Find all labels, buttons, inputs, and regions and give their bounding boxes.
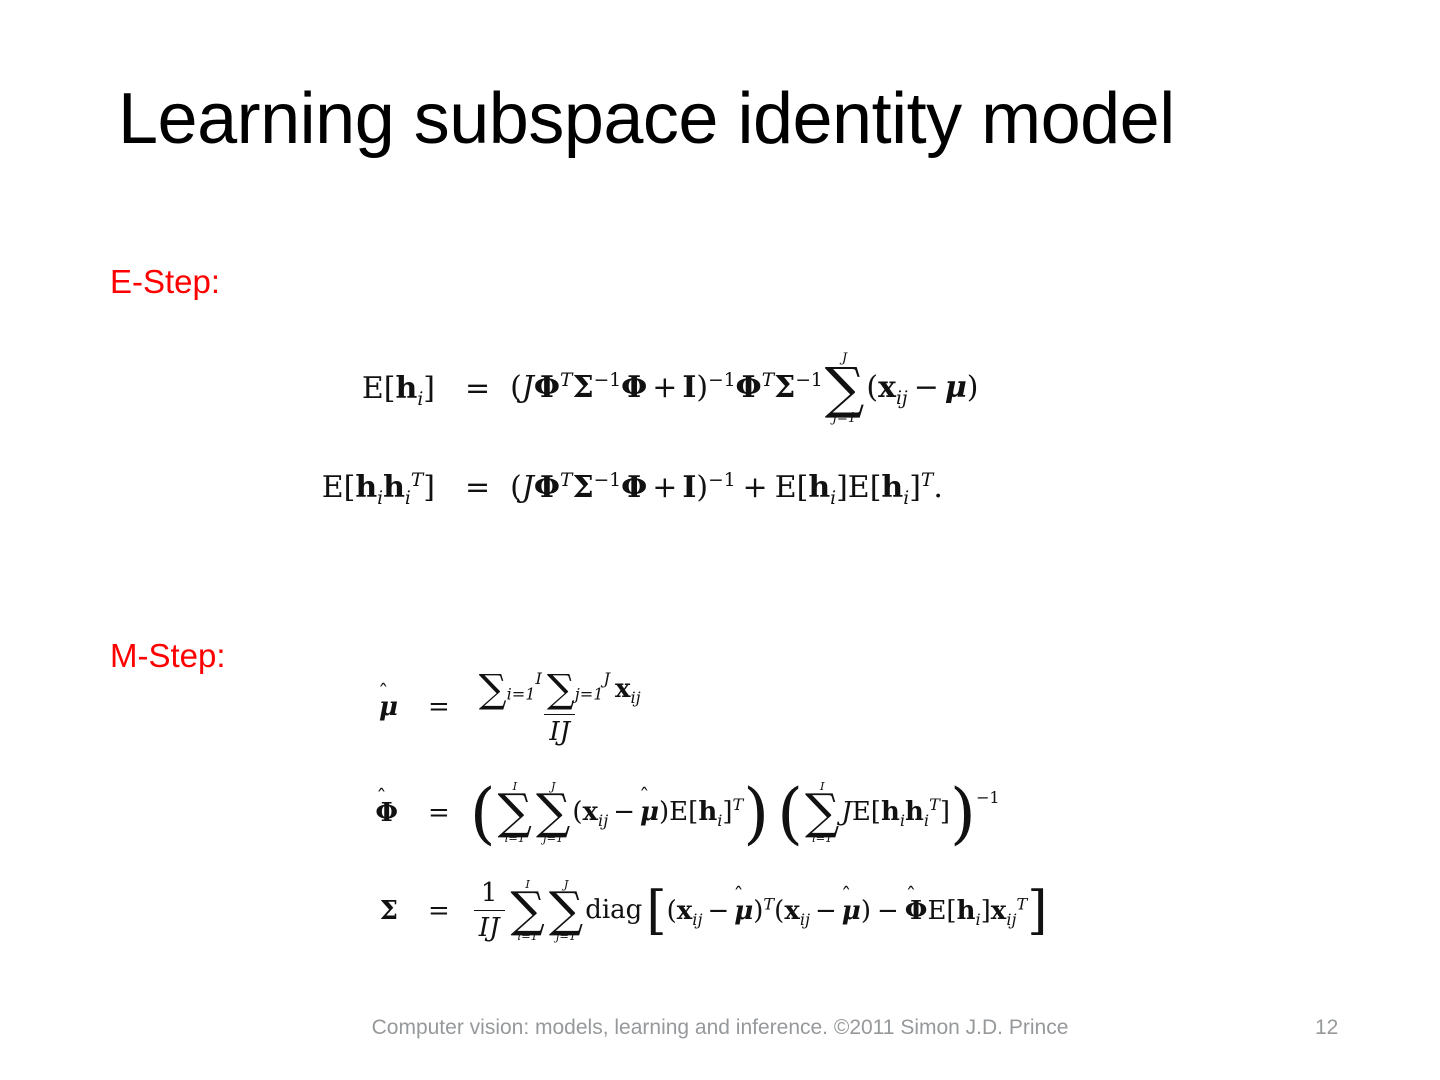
sym-E: E — [848, 470, 870, 505]
sym-J: J — [489, 913, 499, 943]
sym-Phi: Φ — [621, 370, 647, 405]
sym-rbrack: ] — [981, 896, 991, 926]
sym-Phi: Φ — [534, 470, 560, 505]
sym-rbrack: ] — [722, 797, 732, 827]
sym-lbrack: [ — [946, 896, 956, 926]
group-body: I∑i=1J∑j=1(xij−̂μ)E[hi]T — [496, 781, 744, 845]
summation-operator-j: J∑j=1 — [549, 879, 583, 943]
sym-lparen: ( — [510, 370, 522, 405]
sym-T: T — [411, 470, 423, 491]
equation-relation-equals: = — [408, 896, 470, 926]
sym-mu-hat: ̂μ — [734, 896, 753, 926]
sym-lparen: ( — [572, 797, 582, 827]
section-label-m-step: M-Step: — [110, 637, 226, 675]
sym-x: x — [991, 896, 1007, 926]
sym-minus-one: −1 — [594, 370, 621, 391]
sym-x: x — [677, 896, 693, 926]
sum-symbol: ∑ — [536, 792, 570, 833]
sum-symbol: ∑ — [498, 792, 532, 833]
sym-minus-one: −1 — [795, 370, 822, 391]
sym-x: x — [615, 674, 631, 704]
sym-T: T — [733, 795, 744, 814]
sym-rbrack: ] — [940, 797, 950, 827]
fraction-mu-hat: ∑i=1I∑j=1Jxij IJ — [474, 668, 646, 747]
sym-x: x — [784, 896, 800, 926]
sym-T: T — [762, 370, 774, 391]
sym-h: h — [881, 797, 900, 827]
sym-T: T — [929, 795, 940, 814]
sum-symbol: ∑ — [549, 890, 583, 931]
sym-plus: + — [652, 470, 677, 505]
m-step-equation-block: ̂μ = ∑i=1I∑j=1Jxij IJ ̂Φ = ( I∑i=1J∑j=1(… — [356, 668, 1048, 943]
fraction-one-over-ij: 1 IJ — [474, 879, 505, 943]
sym-plus: + — [743, 470, 768, 505]
sym-lbrack: [ — [871, 797, 881, 827]
sym-phi-hat: ̂Φ — [375, 798, 398, 828]
sym-Phi: Φ — [736, 370, 762, 405]
fraction-numerator: 1 — [476, 879, 503, 910]
summation-operator-i: I∑i=1 — [511, 879, 545, 943]
group-body: (xij−̂μ)T(xij−̂μ)−̂ΦE[hi]xijT — [667, 896, 1028, 926]
equation-relation-equals: = — [408, 692, 470, 722]
sym-T: T — [560, 470, 572, 491]
sym-lparen: ( — [510, 470, 522, 505]
sym-Sigma: Σ — [380, 896, 398, 926]
page-number: 12 — [1315, 1016, 1338, 1040]
equation-relation-equals: = — [445, 470, 510, 505]
sym-h: h — [383, 470, 405, 505]
sum-lower-limit: i=1 — [507, 685, 536, 704]
sum-lower-limit: i=1 — [517, 931, 538, 942]
sym-lparen: ( — [866, 370, 878, 405]
grouped-term-right: ( I∑i=1JE[hihiT] ) — [777, 781, 976, 845]
summation-operator-j: J∑j=1 — [536, 781, 570, 845]
sum-lower-limit: j=1 — [543, 833, 563, 844]
sym-mu-hat: ̂μ — [379, 692, 398, 722]
sym-minus: − — [613, 797, 635, 827]
equation-lhs-expected-h: E[hi] — [285, 371, 445, 406]
sym-lbrack: [ — [384, 371, 396, 406]
sym-Phi: Φ — [534, 370, 560, 405]
sym-rbrack: ] — [836, 470, 848, 505]
exponent-minus-one: −1 — [976, 788, 1000, 807]
sym-ij: ij — [631, 688, 641, 707]
sym-rparen: ) — [659, 797, 669, 827]
sum-lower-limit: j=1 — [575, 685, 604, 704]
sym-minus-one: −1 — [594, 470, 621, 491]
summation-operator-i: I∑i=1 — [805, 781, 839, 845]
sym-T: T — [1016, 894, 1027, 913]
slide-canvas: Learning subspace identity model E-Step:… — [0, 0, 1440, 1080]
sym-minus-one: −1 — [708, 370, 735, 391]
sym-plus: + — [652, 370, 677, 405]
sym-E: E — [775, 470, 797, 505]
equation-rhs-sigma: 1 IJ I∑i=1J∑j=1diag [ (xij−̂μ)T(xij−̂μ)−… — [470, 879, 1048, 943]
sym-phi-hat: ̂Φ — [905, 896, 928, 926]
sym-T: T — [763, 894, 774, 913]
equation-rhs-mu-hat: ∑i=1I∑j=1Jxij IJ — [470, 668, 1048, 747]
sym-lparen: ( — [667, 896, 677, 926]
sym-lbrack: [ — [870, 470, 882, 505]
sym-I: I — [549, 717, 559, 747]
grouped-term-bracket: [ (xij−̂μ)T(xij−̂μ)−̂ΦE[hi]xijT ] — [646, 896, 1047, 926]
sym-minus: − — [815, 896, 837, 926]
sum-symbol: ∑ — [511, 890, 545, 931]
sym-lbrack: [ — [797, 470, 809, 505]
equation-relation-equals: = — [445, 371, 510, 406]
summation-operator-i: ∑i=1I — [479, 668, 542, 712]
sym-lbrack: [ — [344, 470, 356, 505]
sym-period: . — [933, 470, 943, 505]
operator-diag: diag — [585, 895, 642, 925]
sym-I: I — [479, 913, 489, 943]
sym-i: i — [405, 488, 411, 509]
grouped-term-left: ( I∑i=1J∑j=1(xij−̂μ)E[hi]T ) — [470, 781, 769, 845]
sum-symbol: ∑ — [805, 792, 839, 833]
sum-symbol: ∑ — [547, 667, 575, 712]
sym-ij: ij — [800, 910, 810, 929]
sym-rparen: ) — [753, 896, 763, 926]
equation-relation-equals: = — [408, 798, 470, 828]
sym-ij: ij — [896, 388, 908, 409]
sym-minus-one: −1 — [708, 470, 735, 491]
equation-lhs-sigma: Σ — [356, 896, 408, 926]
summation-operator-i: I∑i=1 — [498, 781, 532, 845]
sym-E: E — [322, 470, 344, 505]
sum-upper-limit: I — [536, 669, 542, 688]
sym-minus: − — [914, 370, 939, 405]
sum-lower-limit: j=1 — [833, 412, 857, 425]
fraction-numerator: ∑i=1I∑j=1Jxij — [474, 668, 646, 714]
sym-mu: μ — [945, 370, 967, 405]
sym-J: J — [841, 797, 851, 827]
sym-mu-hat: ̂μ — [842, 896, 861, 926]
sym-E: E — [362, 371, 384, 406]
summation-operator-j: J∑j=1 — [825, 352, 865, 426]
sym-Sigma: Σ — [774, 370, 795, 405]
sym-J: J — [522, 470, 534, 505]
sym-lbrack: [ — [688, 797, 698, 827]
page-title: Learning subspace identity model — [118, 82, 1358, 158]
sym-minus: − — [877, 896, 899, 926]
e-step-equation-block: E[hi] = (JΦTΣ−1Φ+I)−1ΦTΣ−1J∑j=1(xij−μ) E… — [285, 352, 979, 505]
sym-Phi: Φ — [621, 470, 647, 505]
sum-symbol: ∑ — [479, 667, 507, 712]
sum-upper-limit: J — [604, 669, 610, 688]
sym-h: h — [905, 797, 924, 827]
sym-rbrack: ] — [423, 470, 435, 505]
sym-T: T — [921, 470, 933, 491]
sym-ij: ij — [692, 910, 702, 929]
footer-attribution: Computer vision: models, learning and in… — [0, 1016, 1440, 1040]
sym-T: T — [560, 370, 572, 391]
sym-J: J — [522, 370, 534, 405]
sym-h: h — [957, 896, 976, 926]
fraction-denominator: IJ — [474, 910, 505, 943]
summation-operator-j: ∑j=1J — [547, 668, 610, 712]
group-body: I∑i=1JE[hihiT] — [803, 781, 950, 845]
sym-rparen: ) — [696, 370, 708, 405]
section-label-e-step: E-Step: — [110, 263, 220, 301]
sym-x: x — [583, 797, 599, 827]
equation-rhs-expected-hh: (JΦTΣ−1Φ+I)−1+E[hi]E[hi]T. — [510, 470, 978, 505]
sym-ij: ij — [598, 811, 608, 830]
sym-rbrack: ] — [423, 371, 435, 406]
sym-J: J — [560, 717, 570, 747]
sym-rparen: ) — [696, 470, 708, 505]
sum-symbol: ∑ — [825, 365, 865, 412]
sym-mu-hat: ̂μ — [640, 797, 659, 827]
sum-lower-limit: j=1 — [556, 931, 576, 942]
equation-lhs-expected-hh: E[hihiT] — [285, 470, 445, 505]
sym-identity: I — [682, 470, 696, 505]
sym-h: h — [808, 470, 830, 505]
equation-lhs-phi-hat: ̂Φ — [356, 798, 408, 828]
sym-lparen: ( — [774, 896, 784, 926]
sym-h: h — [355, 470, 377, 505]
sym-E: E — [852, 797, 871, 827]
sum-lower-limit: i=1 — [812, 833, 833, 844]
sym-h: h — [698, 797, 717, 827]
equation-rhs-expected-h: (JΦTΣ−1Φ+I)−1ΦTΣ−1J∑j=1(xij−μ) — [510, 352, 978, 426]
sym-minus: − — [707, 896, 729, 926]
sym-x: x — [878, 370, 896, 405]
equation-rhs-phi-hat: ( I∑i=1J∑j=1(xij−̂μ)E[hi]T ) ( I∑i=1JE[h… — [470, 781, 1048, 845]
sym-E: E — [927, 896, 946, 926]
sym-ij: ij — [1006, 910, 1016, 929]
sym-h: h — [881, 470, 903, 505]
sym-Sigma: Σ — [572, 370, 593, 405]
sym-E: E — [669, 797, 688, 827]
sym-rparen: ) — [861, 896, 871, 926]
sum-lower-limit: i=1 — [505, 833, 526, 844]
sym-rbrack: ] — [909, 470, 921, 505]
sym-rparen: ) — [967, 370, 979, 405]
equation-lhs-mu-hat: ̂μ — [356, 692, 408, 722]
sym-identity: I — [682, 370, 696, 405]
sym-h: h — [396, 371, 418, 406]
sym-Sigma: Σ — [572, 470, 593, 505]
fraction-denominator: IJ — [544, 714, 575, 747]
